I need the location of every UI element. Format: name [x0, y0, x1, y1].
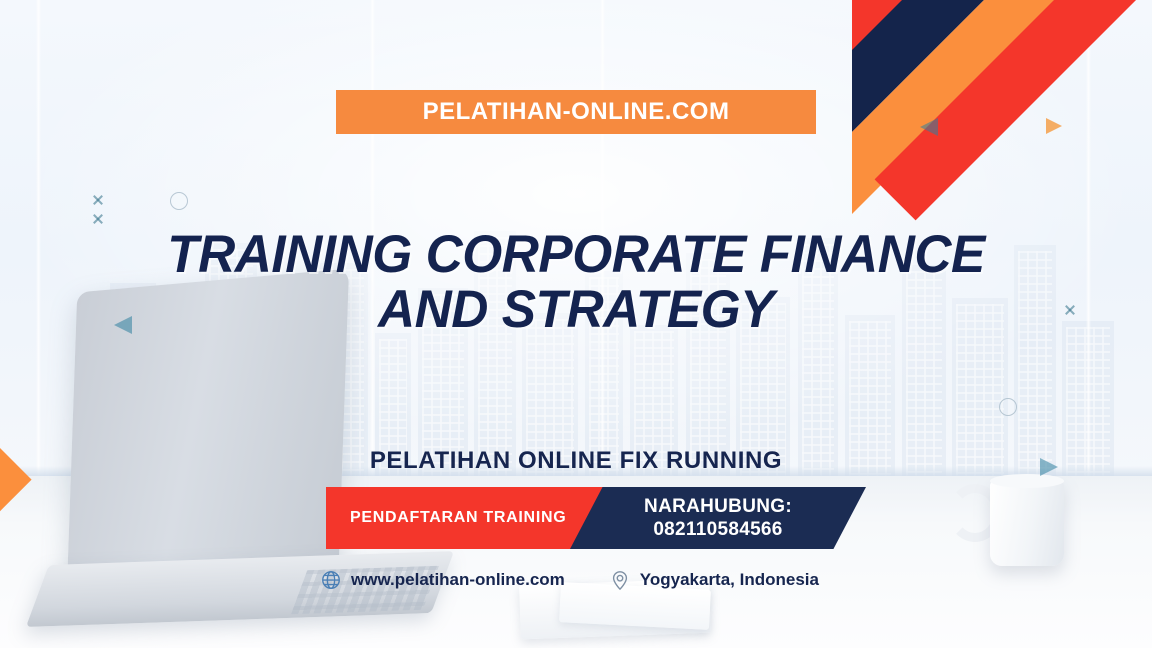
location-text: Yogyakarta, Indonesia	[640, 570, 819, 590]
contact-phone: 082110584566	[653, 518, 782, 541]
subtitle: PELATIHAN ONLINE FIX RUNNING	[96, 447, 1056, 475]
page-title: TRAINING CORPORATE FINANCE AND STRATEGY	[110, 228, 1041, 337]
contact-label: NARAHUBUNG:	[644, 495, 792, 518]
poster-canvas: PELATIHAN-ONLINE.COM TRAINING CORPORATE …	[0, 0, 1152, 648]
location-item[interactable]: Yogyakarta, Indonesia	[609, 569, 819, 591]
url-banner-text: PELATIHAN-ONLINE.COM	[423, 98, 730, 126]
poster-content: PELATIHAN-ONLINE.COM TRAINING CORPORATE …	[0, 0, 1152, 648]
website-item[interactable]: www.pelatihan-online.com	[320, 569, 565, 591]
register-button-label: PENDAFTARAN TRAINING	[326, 509, 566, 527]
contact-panel[interactable]: NARAHUBUNG: 082110584566	[570, 487, 866, 549]
url-banner: PELATIHAN-ONLINE.COM	[336, 90, 816, 134]
globe-icon	[320, 569, 342, 591]
map-pin-icon	[609, 569, 631, 591]
cta-row: PENDAFTARAN TRAINING NARAHUBUNG: 0821105…	[326, 487, 866, 549]
website-text: www.pelatihan-online.com	[351, 570, 565, 590]
meta-row: www.pelatihan-online.com Yogyakarta, Ind…	[320, 565, 819, 595]
